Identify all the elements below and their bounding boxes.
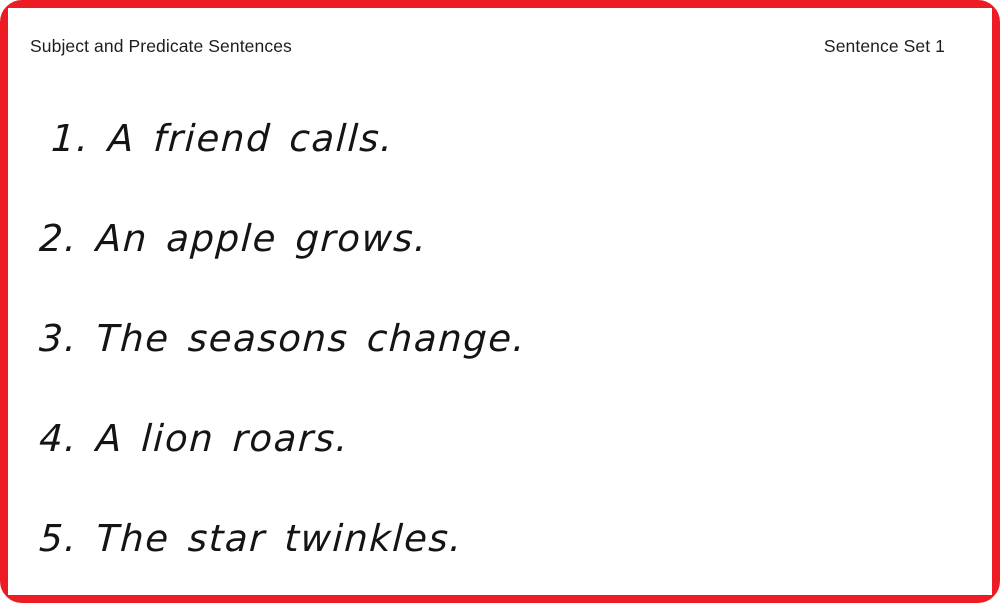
sentence-text-5: 5. The star twinkles. (38, 516, 464, 562)
page-title: Subject and Predicate Sentences (30, 36, 292, 57)
list-item: 2. An apple grows. (38, 216, 968, 316)
list-item: 3. The seasons change. (38, 316, 968, 416)
worksheet-header: Subject and Predicate Sentences Sentence… (30, 36, 945, 62)
worksheet-content-area: Subject and Predicate Sentences Sentence… (8, 8, 992, 595)
sentence-text-3: 3. The seasons change. (38, 316, 527, 362)
sentence-text-2: 2. An apple grows. (38, 216, 429, 262)
sentence-text-1: 1. A friend calls. (38, 116, 395, 162)
list-item: 1. A friend calls. (38, 116, 968, 216)
list-item: 4. A lion roars. (38, 416, 968, 516)
sentence-list: 1. A friend calls. 2. An apple grows. 3.… (38, 116, 968, 603)
sentence-text-4: 4. A lion roars. (38, 416, 350, 462)
worksheet-card: Subject and Predicate Sentences Sentence… (0, 0, 1000, 603)
list-item: 5. The star twinkles. (38, 516, 968, 603)
sentence-set-label: Sentence Set 1 (824, 36, 945, 57)
